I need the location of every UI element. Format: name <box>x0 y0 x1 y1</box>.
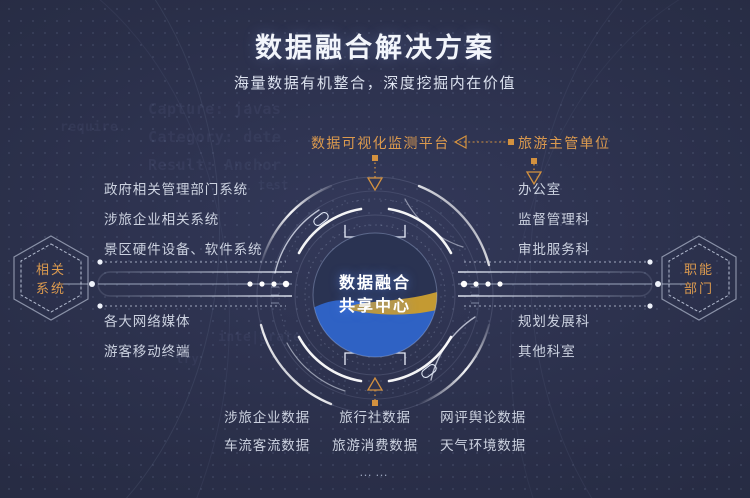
left-bottom-source-list: 各大网络媒体 游客移动终端 <box>104 310 190 370</box>
grid-cell[interactable]: 车流客流数据 <box>213 434 321 454</box>
list-item[interactable]: 景区硬件设备、软件系统 <box>104 238 262 258</box>
gold-arrow-bottom <box>368 378 382 406</box>
grid-cell[interactable]: 网评舆论数据 <box>429 406 537 426</box>
list-item[interactable]: 政府相关管理部门系统 <box>104 178 262 198</box>
hexagon-functional-departments[interactable]: 职能 部门 <box>662 236 736 322</box>
list-item[interactable]: 其他科室 <box>518 340 590 360</box>
label-visualization-platform[interactable]: 数据可视化监测平台 <box>311 133 450 153</box>
hexagon-right-line1: 职能 <box>684 260 714 280</box>
grid-cell[interactable]: 旅游消费数据 <box>321 434 429 454</box>
core-line1: 数据融合 <box>339 272 411 295</box>
right-bottom-department-list: 规划发展科 其他科室 <box>518 310 590 370</box>
list-item[interactable]: 办公室 <box>518 178 590 198</box>
grid-cell[interactable]: 旅行社数据 <box>321 406 429 426</box>
hexagon-related-systems[interactable]: 相关 系统 <box>14 236 88 322</box>
list-item[interactable]: 规划发展科 <box>518 310 590 330</box>
right-top-department-list: 办公室 监督管理科 审批服务科 <box>518 178 590 268</box>
gold-arrow-top <box>368 155 382 190</box>
list-item[interactable]: 游客移动终端 <box>104 340 190 360</box>
bottom-grid-row: 车流客流数据 旅游消费数据 天气环境数据 <box>213 434 537 454</box>
list-item[interactable]: 审批服务科 <box>518 238 590 258</box>
page-subtitle: 海量数据有机整合，深度挖掘内在价值 <box>0 72 750 93</box>
grid-cell[interactable]: 天气环境数据 <box>429 434 537 454</box>
hexagon-left-line1: 相关 <box>36 260 66 280</box>
list-item[interactable]: 各大网络媒体 <box>104 310 190 330</box>
hexagon-right-line2: 部门 <box>684 279 714 299</box>
bottom-grid-row: 涉旅企业数据 旅行社数据 网评舆论数据 <box>213 406 537 426</box>
left-top-source-list: 政府相关管理部门系统 涉旅企业相关系统 景区硬件设备、软件系统 <box>104 178 262 268</box>
list-item[interactable]: 监督管理科 <box>518 208 590 228</box>
core-label: 数据融合 共享中心 <box>313 233 437 357</box>
label-tourism-authority[interactable]: 旅游主管单位 <box>518 133 610 153</box>
core-line2: 共享中心 <box>339 295 411 318</box>
list-item[interactable]: 涉旅企业相关系统 <box>104 208 262 228</box>
infographic-canvas: Capture: javas Category: dete Result: An… <box>0 0 750 498</box>
hexagon-left-line2: 系统 <box>36 279 66 299</box>
gold-label-connector <box>455 136 514 148</box>
bottom-data-grid: 涉旅企业数据 旅行社数据 网评舆论数据 车流客流数据 旅游消费数据 天气环境数据… <box>0 406 750 479</box>
grid-ellipsis: …… <box>359 464 391 479</box>
page-title: 数据融合解决方案 <box>0 26 750 65</box>
grid-cell[interactable]: 涉旅企业数据 <box>213 406 321 426</box>
